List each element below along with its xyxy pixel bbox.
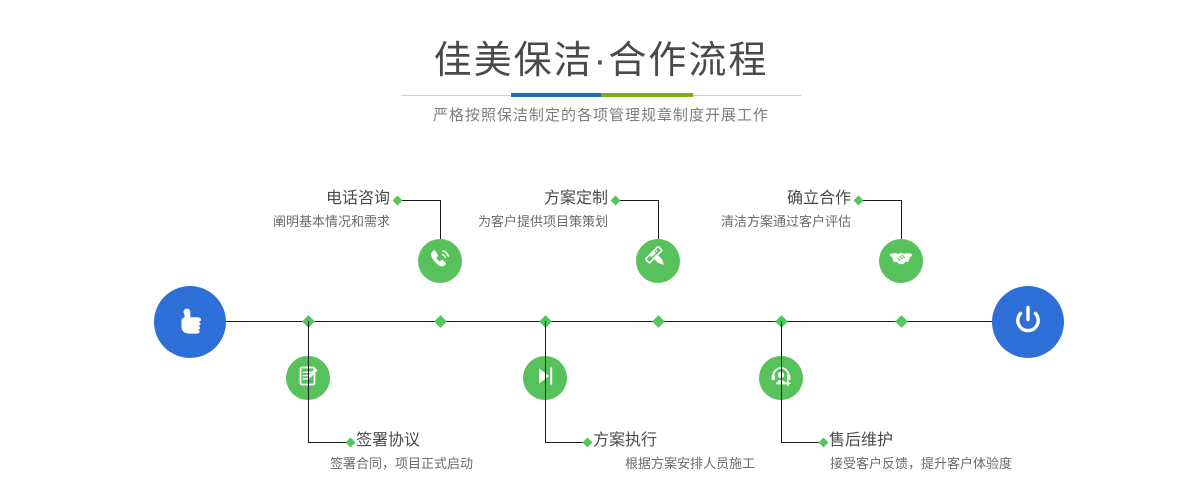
title-divider <box>401 93 801 97</box>
step-label-marker-5 <box>854 196 864 206</box>
axis-marker-1 <box>434 315 447 328</box>
step-title-1: 电话咨询 <box>194 189 390 209</box>
page-title: 佳美保洁·合作流程 <box>0 38 1202 84</box>
handshake-icon <box>888 246 914 277</box>
power-icon <box>1008 300 1048 345</box>
step-desc-2: 签署合同，项目正式启动 <box>330 455 590 473</box>
divider-green-segment <box>601 93 693 97</box>
timeline-start-endpoint <box>154 286 226 358</box>
step-connector-vertical-5 <box>901 200 902 239</box>
page-subtitle: 严格按照保洁制定的各项管理规章制度开展工作 <box>0 105 1202 127</box>
step-title-3: 方案定制 <box>412 189 608 209</box>
phone-call-icon <box>427 246 453 277</box>
step-connector-vertical-4 <box>545 321 546 442</box>
cooperation-process-infographic: 佳美保洁·合作流程 严格按照保洁制定的各项管理规章制度开展工作 <box>0 0 1202 502</box>
pencil-ruler-icon <box>645 246 671 277</box>
step-connector-horizontal-6 <box>781 442 823 443</box>
step-desc-1: 阐明基本情况和需求 <box>144 213 390 231</box>
step-desc-6: 接受客户反馈，提升客户体验度 <box>830 455 1130 473</box>
step-title-5: 确立合作 <box>655 189 851 209</box>
step-label-marker-6 <box>819 438 829 448</box>
step-icon-circle-5 <box>879 239 923 283</box>
step-connector-horizontal-5 <box>859 200 901 201</box>
step-connector-horizontal-3 <box>616 200 658 201</box>
divider-blue-segment <box>511 93 601 97</box>
axis-marker-3 <box>652 315 665 328</box>
timeline-end-endpoint <box>992 286 1064 358</box>
step-icon-circle-1 <box>418 239 462 283</box>
step-connector-horizontal-4 <box>545 442 587 443</box>
step-connector-vertical-6 <box>781 321 782 442</box>
step-title-4: 方案执行 <box>593 431 813 451</box>
axis-marker-5 <box>895 315 908 328</box>
pointing-hand-icon <box>170 300 210 345</box>
step-label-marker-1 <box>393 196 403 206</box>
step-title-2: 签署协议 <box>356 431 576 451</box>
step-icon-circle-3 <box>636 239 680 283</box>
step-connector-horizontal-2 <box>308 442 350 443</box>
step-label-marker-2 <box>346 438 356 448</box>
step-title-6: 售后维护 <box>829 431 1069 451</box>
step-connector-vertical-2 <box>308 321 309 442</box>
step-label-marker-4 <box>583 438 593 448</box>
step-label-marker-3 <box>611 196 621 206</box>
step-desc-5: 清洁方案通过客户评估 <box>605 213 851 231</box>
step-desc-3: 为客户提供项目策策划 <box>362 213 608 231</box>
